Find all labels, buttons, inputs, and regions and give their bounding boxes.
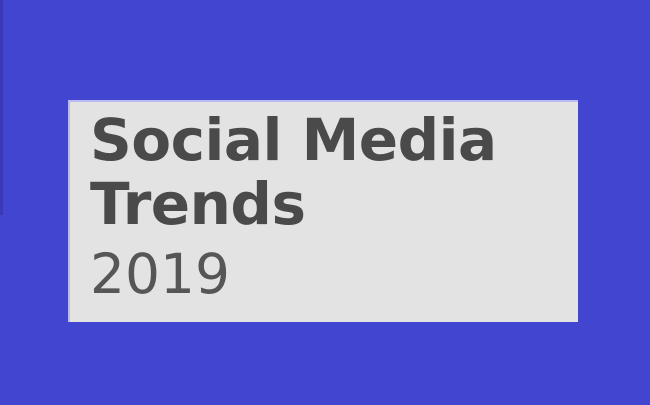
left-edge-accent-strip	[0, 0, 3, 215]
headline-line-2: Trends	[90, 172, 578, 236]
headline-line-1: Social Media	[90, 108, 578, 172]
title-text-block: Social Media Trends 2019	[90, 104, 578, 305]
year-label: 2019	[90, 243, 578, 305]
poster-canvas: Social Media Trends 2019	[0, 0, 650, 405]
title-card: Social Media Trends 2019	[68, 100, 578, 322]
